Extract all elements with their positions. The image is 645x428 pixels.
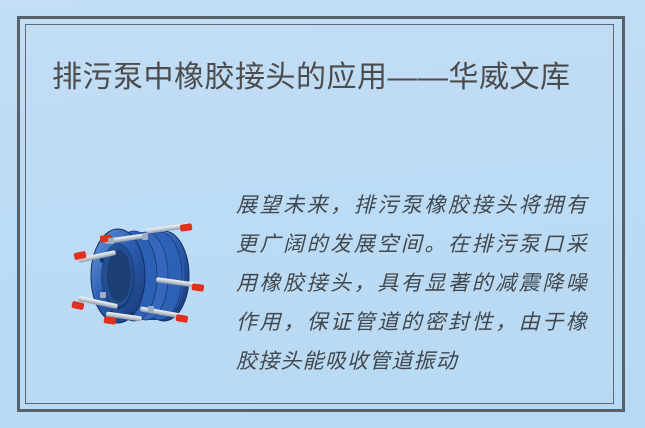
body-paragraph: 展望未来，排污泵橡胶接头将拥有更广阔的发展空间。在排污泵口采用橡胶接头，具有显著… (236, 186, 588, 381)
poster-canvas: 排污泵中橡胶接头的应用——华威文库 (0, 0, 645, 428)
page-title: 排污泵中橡胶接头的应用——华威文库 (52, 57, 592, 99)
product-image (60, 214, 212, 340)
